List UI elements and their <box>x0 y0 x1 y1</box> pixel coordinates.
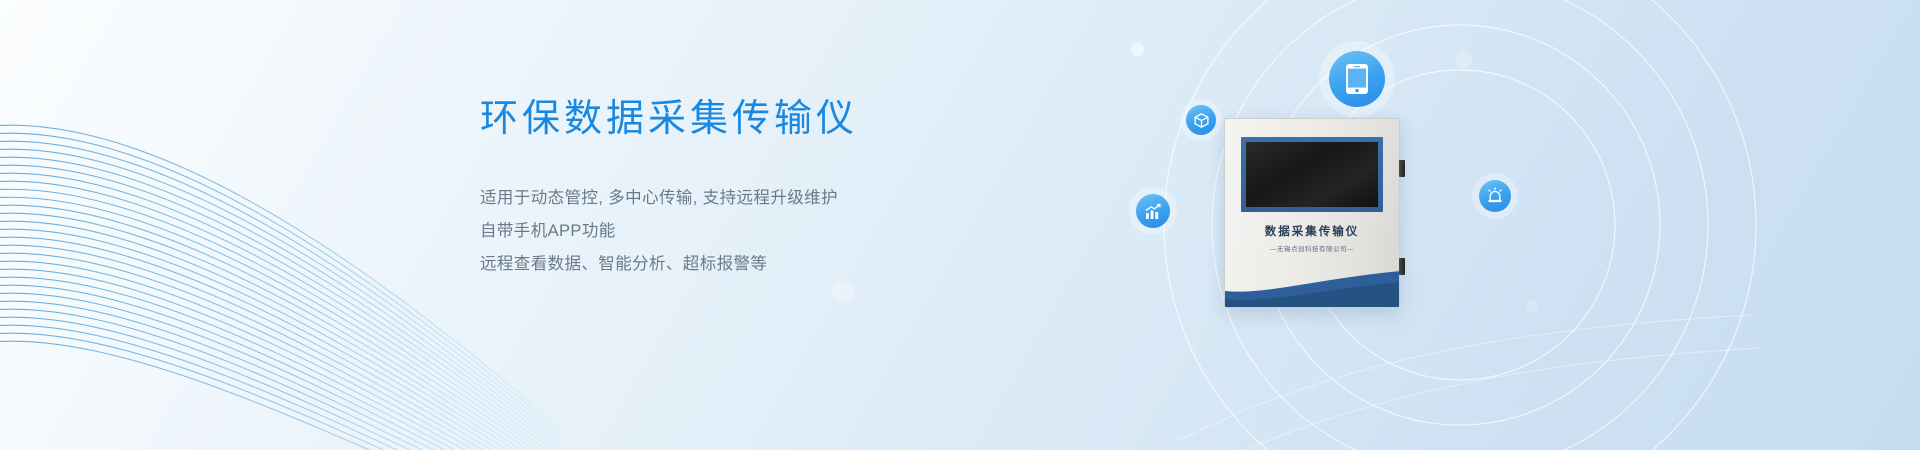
chart-icon-bubble[interactable] <box>1136 194 1170 228</box>
wave-lines-decoration <box>0 110 560 450</box>
phone-icon <box>1346 64 1368 94</box>
cube-icon <box>1193 112 1210 129</box>
feature-line-1: 适用于动态管控, 多中心传输, 支持远程升级维护 <box>480 182 1040 215</box>
product-banner: 环保数据采集传输仪 适用于动态管控, 多中心传输, 支持远程升级维护 自带手机A… <box>0 0 1920 450</box>
product-device-image: 数据采集传输仪 —无锡点创科技有限公司— <box>1224 118 1400 308</box>
page-title: 环保数据采集传输仪 <box>480 96 1040 144</box>
device-enclosure: 数据采集传输仪 —无锡点创科技有限公司— <box>1224 118 1400 308</box>
feature-list: 适用于动态管控, 多中心传输, 支持远程升级维护 自带手机APP功能 远程查看数… <box>480 182 1040 281</box>
bokeh-dot <box>1131 43 1144 56</box>
cube-icon-bubble[interactable] <box>1186 105 1216 135</box>
device-screen <box>1246 142 1378 207</box>
device-label: 数据采集传输仪 <box>1225 223 1399 239</box>
feature-line-3: 远程查看数据、智能分析、超标报警等 <box>480 248 1040 281</box>
device-connector-top <box>1399 160 1405 177</box>
chart-icon <box>1144 202 1163 221</box>
device-screen-bezel <box>1241 137 1383 212</box>
device-bottom-wave <box>1225 265 1400 307</box>
banner-text-block: 环保数据采集传输仪 适用于动态管控, 多中心传输, 支持远程升级维护 自带手机A… <box>480 96 1040 281</box>
alarm-icon-bubble[interactable] <box>1479 180 1511 212</box>
bokeh-dot <box>832 281 854 303</box>
phone-icon-bubble[interactable] <box>1329 51 1385 107</box>
feature-line-2: 自带手机APP功能 <box>480 215 1040 248</box>
device-connector-bottom <box>1399 258 1405 275</box>
alarm-icon <box>1486 187 1504 205</box>
bokeh-dot <box>1526 300 1538 312</box>
bokeh-dot <box>1456 52 1472 68</box>
device-company-name: —无锡点创科技有限公司— <box>1225 243 1399 253</box>
arc-rings-decoration <box>1060 0 1760 450</box>
